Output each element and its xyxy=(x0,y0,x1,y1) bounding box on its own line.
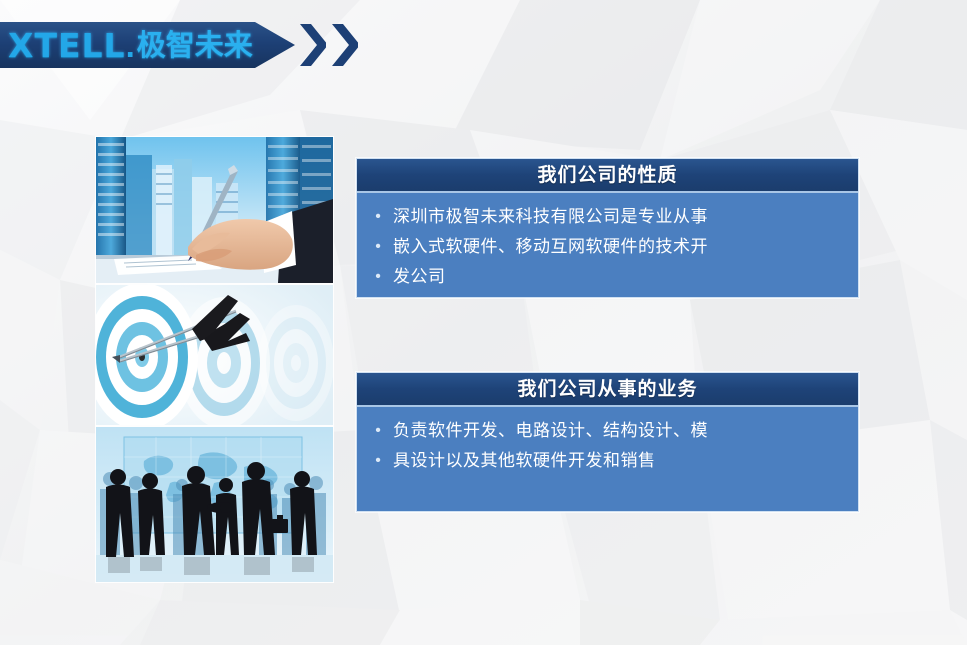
card-title: 我们公司从事的业务 xyxy=(517,380,697,399)
content-card-company-business: 我们公司从事的业务 • 负责软件开发、电路设计、结构设计、模 • 具设计以及其他… xyxy=(356,372,859,512)
brand-logo-text: XTELL.极智未来 xyxy=(8,22,253,68)
bullet-dot-icon: • xyxy=(363,416,393,446)
list-item: • 发公司 xyxy=(357,262,858,292)
photo-business-handshake-silhouettes xyxy=(96,427,333,582)
bullet-text: 发公司 xyxy=(393,262,848,292)
list-item: • 具设计以及其他软硬件开发和销售 xyxy=(357,446,858,476)
list-item: • 嵌入式软硬件、移动互网软硬件的技术开 xyxy=(357,232,858,262)
photo-hand-signing-contract xyxy=(96,137,333,283)
content-card-company-nature: 我们公司的性质 • 深圳市极智未来科技有限公司是专业从事 • 嵌入式软硬件、移动… xyxy=(356,158,859,298)
card-body-company-business: • 负责软件开发、电路设计、结构设计、模 • 具设计以及其他软硬件开发和销售 xyxy=(357,407,858,511)
chevron-right-icon-1 xyxy=(300,24,326,66)
chevron-right-icon-2 xyxy=(332,24,358,66)
bullet-text: 负责软件开发、电路设计、结构设计、模 xyxy=(393,416,848,446)
brand-name-latin: XTELL xyxy=(8,29,126,62)
bullet-text: 嵌入式软硬件、移动互网软硬件的技术开 xyxy=(393,232,848,262)
card-title: 我们公司的性质 xyxy=(537,166,677,185)
card-header-company-nature: 我们公司的性质 xyxy=(357,159,858,193)
bullet-dot-icon: • xyxy=(363,232,393,262)
brand-name-chinese: 极智未来 xyxy=(137,31,253,60)
slide-canvas: XTELL.极智未来 xyxy=(0,0,967,645)
brand-logo-banner: XTELL.极智未来 xyxy=(0,22,295,68)
bullet-dot-icon: • xyxy=(363,262,393,292)
list-item: • 负责软件开发、电路设计、结构设计、模 xyxy=(357,416,858,446)
double-chevron-right-icon xyxy=(300,22,358,68)
card-body-company-nature: • 深圳市极智未来科技有限公司是专业从事 • 嵌入式软硬件、移动互网软硬件的技术… xyxy=(357,193,858,297)
brand-name-dot: . xyxy=(126,29,135,62)
photo-arrows-in-target xyxy=(96,285,333,425)
bullet-dot-icon: • xyxy=(363,446,393,476)
bullet-text: 具设计以及其他软硬件开发和销售 xyxy=(393,446,848,476)
card-header-company-business: 我们公司从事的业务 xyxy=(357,373,858,407)
bullet-text: 深圳市极智未来科技有限公司是专业从事 xyxy=(393,202,848,232)
list-item: • 深圳市极智未来科技有限公司是专业从事 xyxy=(357,202,858,232)
bullet-dot-icon: • xyxy=(363,202,393,232)
